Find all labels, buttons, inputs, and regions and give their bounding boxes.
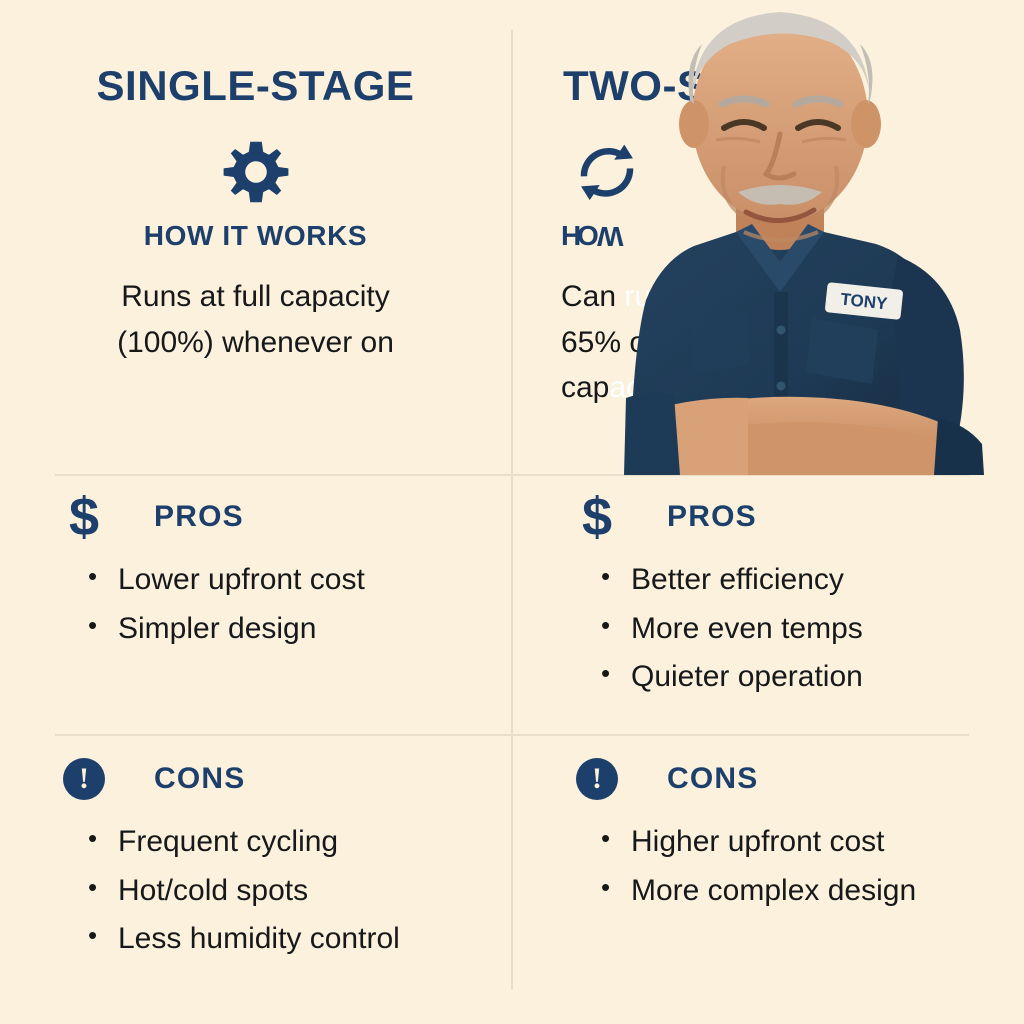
right-pros-cell: $ PROS Better efficiency More even temps… [513,486,1024,734]
left-pros-label: PROS [154,500,244,534]
right-cons-cell: ! CONS Higher upfront cost More complex … [513,748,1024,1018]
list-item: Higher upfront cost [599,818,1024,867]
dollar-sign-icon: $ [575,490,619,544]
gear-icon [0,136,511,214]
left-cons-label: CONS [154,762,245,796]
left-how-it-works-cell: SINGLE-STAGE HOW IT WORKS Runs at full c… [0,40,511,474]
exclamation-circle-icon: ! [575,758,619,800]
exclamation-circle-icon: ! [62,758,106,800]
left-pros-cell: $ PROS Lower upfront cost Simpler design [0,486,511,734]
right-cons-label: CONS [667,762,758,796]
row-divider-pros-cons [55,734,969,736]
list-item: Lower upfront cost [86,556,511,605]
right-cons-list: Higher upfront cost More complex design [513,818,1024,915]
list-item: More complex design [599,867,1024,916]
list-item: Quieter operation [599,653,1024,702]
list-item: Hot/cold spots [86,867,511,916]
left-how-body: Runs at full capacity (100%) whenever on [0,274,511,365]
left-cons-header: ! CONS [0,748,511,810]
dollar-sign-icon: $ [62,490,106,544]
left-cons-cell: ! CONS Frequent cycling Hot/cold spots L… [0,748,511,1018]
left-column-title: SINGLE-STAGE [0,40,511,110]
left-cons-list: Frequent cycling Hot/cold spots Less hum… [0,818,511,964]
left-pros-header: $ PROS [0,486,511,548]
right-cons-header: ! CONS [513,748,1024,810]
list-item: More even temps [599,605,1024,654]
left-pros-list: Lower upfront cost Simpler design [0,556,511,653]
list-item: Less humidity control [86,915,511,964]
right-pros-list: Better efficiency More even temps Quiete… [513,556,1024,702]
left-how-line-2: (100%) whenever on [40,320,471,366]
list-item: Simpler design [86,605,511,654]
comparison-infographic: SINGLE-STAGE HOW IT WORKS Runs at full c… [0,0,1024,1024]
column-divider [511,30,513,990]
right-pros-label: PROS [667,500,757,534]
right-pros-header: $ PROS [513,486,1024,548]
list-item: Better efficiency [599,556,1024,605]
left-how-line-1: Runs at full capacity [40,274,471,320]
technician-photo: TONY [598,0,1012,475]
left-how-heading: HOW IT WORKS [0,220,511,252]
list-item: Frequent cycling [86,818,511,867]
